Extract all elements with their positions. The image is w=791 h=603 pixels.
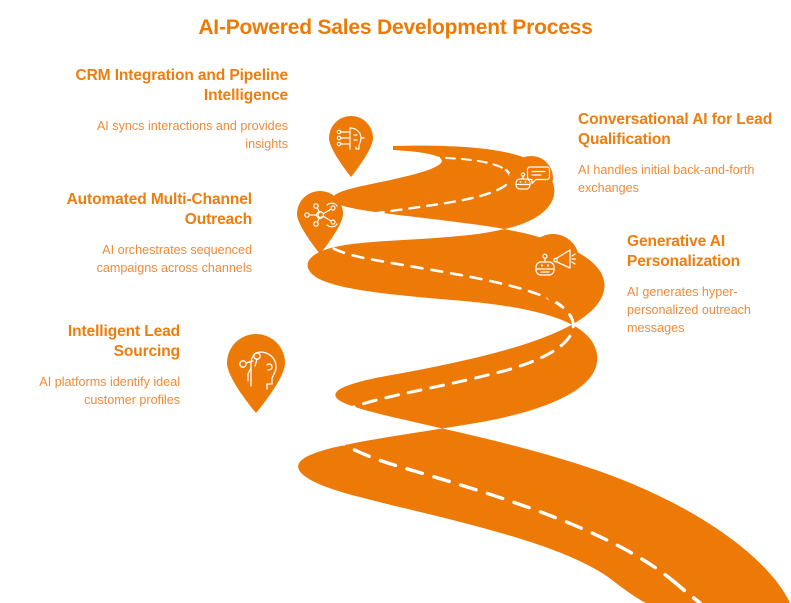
pin-outreach[interactable] bbox=[294, 191, 346, 255]
pin-generative[interactable] bbox=[524, 234, 582, 306]
pin-crm[interactable] bbox=[326, 116, 376, 178]
step-block-conversational: Conversational AI for Lead Qualification… bbox=[578, 110, 778, 198]
step-block-generative: Generative AI Personalization AI generat… bbox=[627, 232, 787, 338]
pin-sourcing[interactable] bbox=[224, 334, 288, 414]
step-description-generative: AI generates hyper-personalized outreach… bbox=[627, 284, 787, 338]
step-title-outreach: Automated Multi-Channel Outreach bbox=[45, 190, 252, 230]
step-title-generative: Generative AI Personalization bbox=[627, 232, 787, 272]
step-block-sourcing: Intelligent Lead Sourcing AI platforms i… bbox=[0, 322, 180, 410]
step-title-conversational: Conversational AI for Lead Qualification bbox=[578, 110, 778, 150]
step-title-crm: CRM Integration and Pipeline Intelligenc… bbox=[60, 66, 288, 106]
step-title-sourcing: Intelligent Lead Sourcing bbox=[0, 322, 180, 362]
step-description-conversational: AI handles initial back-and-forth exchan… bbox=[578, 162, 778, 198]
step-description-crm: AI syncs interactions and provides insig… bbox=[60, 118, 288, 154]
step-block-outreach: Automated Multi-Channel Outreach AI orch… bbox=[45, 190, 252, 278]
step-description-outreach: AI orchestrates sequenced campaigns acro… bbox=[45, 242, 252, 278]
infographic-canvas: AI-Powered Sales Development Process bbox=[0, 0, 791, 603]
step-description-sourcing: AI platforms identify ideal customer pro… bbox=[0, 374, 180, 410]
step-block-crm: CRM Integration and Pipeline Intelligenc… bbox=[60, 66, 288, 154]
pin-conversational[interactable] bbox=[506, 156, 556, 218]
